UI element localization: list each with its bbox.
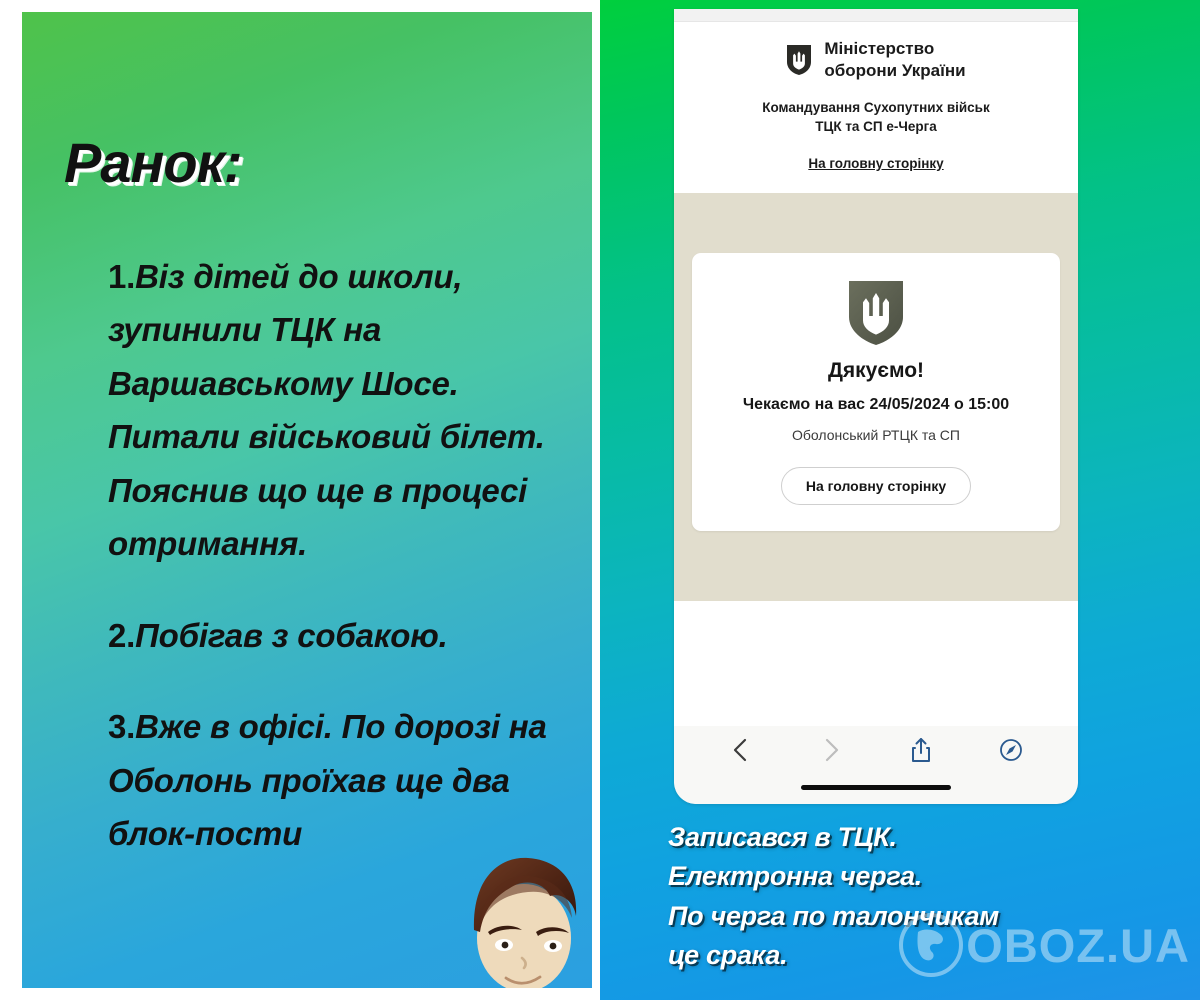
browser-top-strip (674, 9, 1078, 22)
subtitle-line-2: ТЦК та СП е-Черга (674, 117, 1078, 137)
mii-avatar (466, 852, 584, 988)
caption-line-3: По черга по талончикам (668, 897, 1138, 936)
screenshot-canvas: Ранок: 1.Віз дітей до школи, зупинили ТЦ… (0, 0, 1200, 1000)
site-header: Міністерство оборони України Командуванн… (674, 22, 1078, 193)
story-item-number: 3. (108, 708, 135, 745)
toolbar-icons (674, 726, 1078, 774)
story-item: 3.Вже в офісі. По дорозі на Оболонь прої… (108, 700, 592, 860)
site-subtitle: Командування Сухопутних військ ТЦК та СП… (674, 98, 1078, 137)
brand-text: Міністерство оборони України (824, 38, 965, 82)
caption-line-2: Електронна черга. (668, 857, 1138, 896)
brand-row: Міністерство оборони України (674, 38, 1078, 82)
confirmation-card: Дякуємо! Чекаємо на вас 24/05/2024 о 15:… (692, 253, 1060, 531)
appointment-datetime: Чекаємо на вас 24/05/2024 о 15:00 (710, 396, 1042, 414)
story-item: 2.Побігав з собакою. (108, 609, 592, 662)
card-shield-wrap (710, 279, 1042, 347)
right-phone-panel: Міністерство оборони України Командуванн… (600, 0, 1200, 1000)
brand-line-1: Міністерство (824, 38, 965, 60)
story-item-number: 1. (108, 258, 135, 295)
safari-toolbar (674, 726, 1078, 804)
story-item-text: Вже в офісі. По дорозі на Оболонь проїха… (108, 708, 547, 852)
share-icon[interactable] (908, 736, 934, 764)
office-name: Оболонський РТЦК та СП (710, 427, 1042, 443)
caption-line-1: Записався в ТЦК. (668, 818, 1138, 857)
brand-line-2: оборони України (824, 60, 965, 82)
home-page-button[interactable]: На головну сторінку (781, 467, 971, 505)
thank-you-title: Дякуємо! (710, 359, 1042, 383)
story-heading: Ранок: (64, 130, 242, 195)
subtitle-line-1: Командування Сухопутних військ (674, 98, 1078, 118)
forward-chevron-icon[interactable] (818, 736, 844, 764)
story-item: 1.Віз дітей до школи, зупинили ТЦК на Ва… (108, 250, 592, 571)
story-item-number: 2. (108, 617, 135, 654)
phone-caption: Записався в ТЦК. Електронна черга. По че… (668, 818, 1138, 976)
home-indicator (801, 785, 951, 790)
back-chevron-icon[interactable] (728, 736, 754, 764)
army-shield-icon (847, 279, 905, 347)
home-page-link[interactable]: На головну сторінку (808, 156, 943, 171)
story-item-text: Віз дітей до школи, зупинили ТЦК на Варш… (108, 258, 545, 562)
page-body: Дякуємо! Чекаємо на вас 24/05/2024 о 15:… (674, 193, 1078, 601)
compass-icon[interactable] (998, 736, 1024, 764)
left-story-panel: Ранок: 1.Віз дітей до школи, зупинили ТЦ… (22, 12, 592, 988)
story-item-text: Побігав з собакою. (135, 617, 447, 654)
story-body: 1.Віз дітей до школи, зупинили ТЦК на Ва… (108, 250, 592, 861)
phone-screen: Міністерство оборони України Командуванн… (674, 9, 1078, 804)
ministry-shield-icon (786, 44, 812, 76)
caption-line-4: це срака. (668, 936, 1138, 975)
